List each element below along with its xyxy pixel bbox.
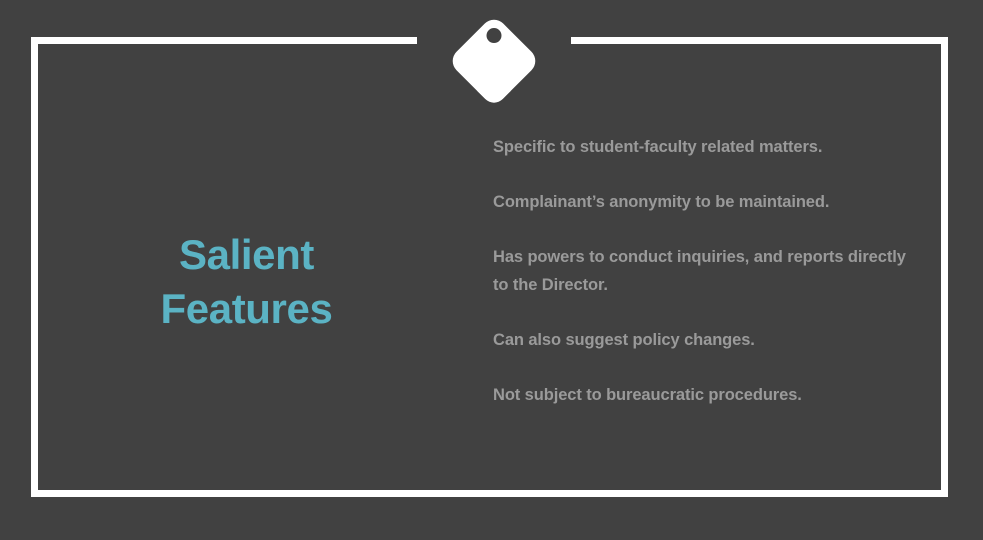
frame-border-left [31,37,38,497]
list-item: Complainant’s anonymity to be maintained… [493,188,923,216]
tag-icon [441,8,547,114]
slide-canvas: Salient Features Specific to student-fac… [0,0,983,540]
page-title-line-2: Features [60,282,433,336]
frame-border-bottom [31,490,948,497]
list-item: Can also suggest policy changes. [493,326,923,354]
frame-border-top-left [31,37,417,44]
feature-list: Specific to student-faculty related matt… [493,133,923,409]
list-item: Not subject to bureaucratic procedures. [493,381,923,409]
list-item: Has powers to conduct inquiries, and rep… [493,243,923,299]
page-title-line-1: Salient [60,228,433,282]
frame-border-top-right [571,37,948,44]
page-title: Salient Features [60,228,433,336]
list-item: Specific to student-faculty related matt… [493,133,923,161]
frame-border-right [941,37,948,497]
